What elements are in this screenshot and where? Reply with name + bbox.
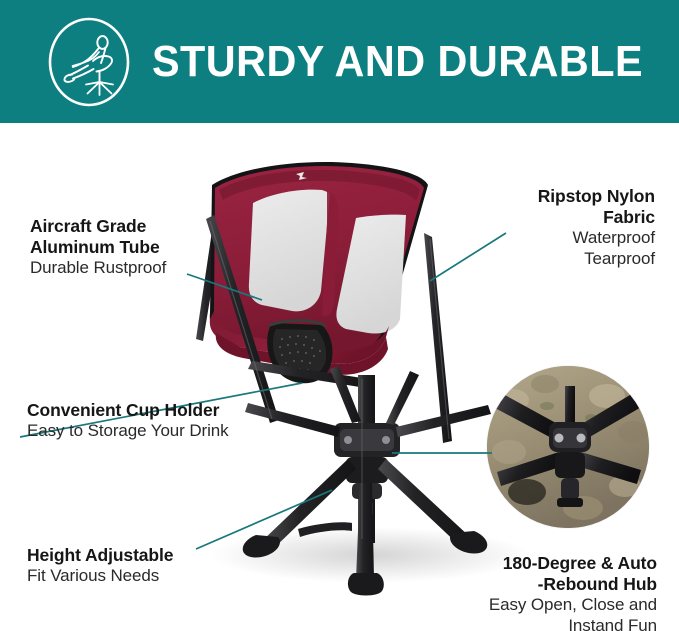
callout-subtitle: Durable Rustproof bbox=[30, 258, 260, 279]
callout-title-line2: -Rebound Hub bbox=[435, 574, 657, 595]
callout-subtitle: Fit Various Needs bbox=[27, 566, 257, 587]
infographic-page: STURDY AND DURABLE bbox=[0, 0, 679, 631]
header-band: STURDY AND DURABLE bbox=[0, 0, 679, 123]
callout-title: Height Adjustable bbox=[27, 545, 257, 566]
page-title: STURDY AND DURABLE bbox=[152, 31, 641, 93]
callout-180-degree-auto-rebound-hub: 180-Degree & Auto -Rebound Hub Easy Open… bbox=[435, 553, 657, 631]
callout-title: Convenient Cup Holder bbox=[27, 400, 297, 421]
callout-title: Ripstop Nylon bbox=[455, 186, 655, 207]
callout-height-adjustable: Height Adjustable Fit Various Needs bbox=[27, 545, 257, 587]
callout-title: 180-Degree & Auto bbox=[435, 553, 657, 574]
callout-title-line2: Fabric bbox=[455, 207, 655, 228]
callout-subtitle: Easy to Storage Your Drink bbox=[27, 421, 297, 442]
person-reclining-in-chair-icon bbox=[41, 14, 137, 110]
callout-ripstop-nylon-fabric: Ripstop Nylon Fabric Waterproof Tearproo… bbox=[455, 186, 655, 269]
callout-subtitle-line2: Tearproof bbox=[455, 249, 655, 270]
callout-convenient-cup-holder: Convenient Cup Holder Easy to Storage Yo… bbox=[27, 400, 297, 442]
callout-aircraft-grade-aluminum-tube: Aircraft Grade Aluminum Tube Durable Rus… bbox=[30, 216, 260, 279]
callout-title: Aircraft Grade bbox=[30, 216, 260, 237]
callout-subtitle: Easy Open, Close and bbox=[435, 595, 657, 616]
callout-subtitle-line2: Instand Fun bbox=[435, 616, 657, 631]
callout-title-line2: Aluminum Tube bbox=[30, 237, 260, 258]
auto-rebound-hub-closeup-inset bbox=[487, 366, 649, 528]
callout-subtitle: Waterproof bbox=[455, 228, 655, 249]
